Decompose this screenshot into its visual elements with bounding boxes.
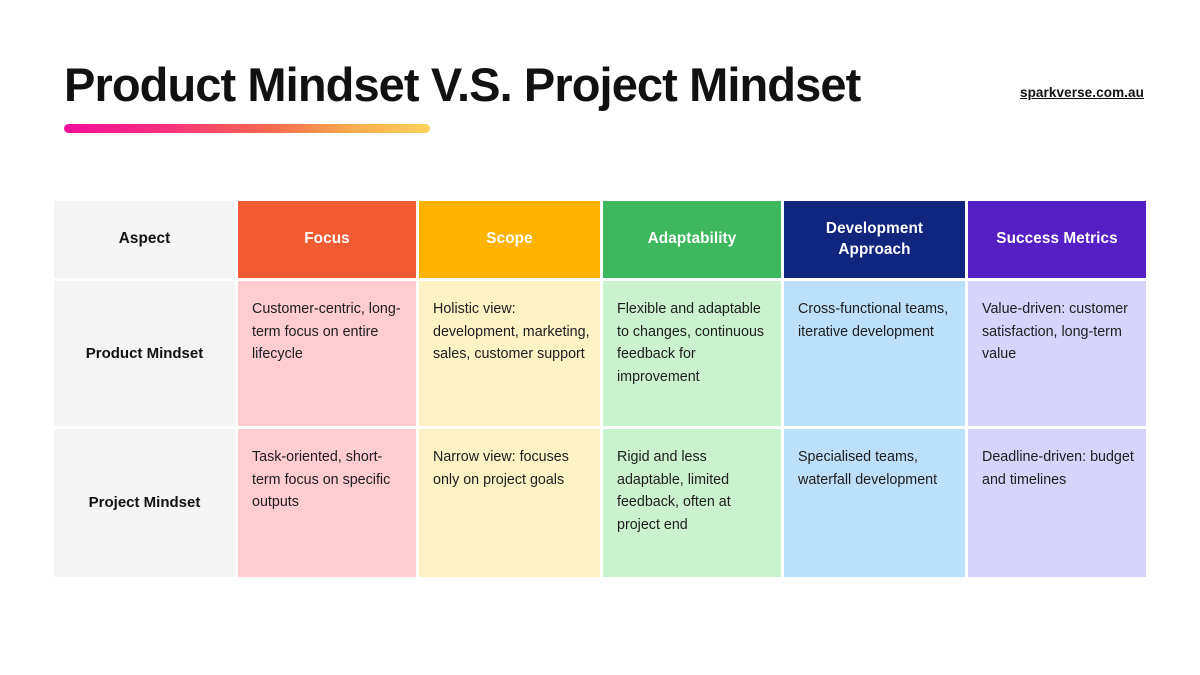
cell-text: Narrow view: focuses only on project goa…: [433, 446, 590, 491]
table-cell-project-success-metrics: Deadline-driven: budget and timelines: [968, 429, 1146, 577]
title-underline-gradient-bar: [64, 124, 430, 133]
table-header-development-approach: Development Approach: [784, 201, 965, 278]
table-row-label-product-mindset: Product Mindset: [54, 281, 235, 426]
cell-text: Cross-functional teams, iterative develo…: [798, 298, 955, 343]
table-cell-product-adaptability: Flexible and adaptable to changes, conti…: [603, 281, 781, 426]
slide-header: Product Mindset V.S. Project Mindset spa…: [0, 0, 1200, 170]
cell-text: Holistic view: development, marketing, s…: [433, 298, 590, 366]
table-header-scope: Scope: [419, 201, 600, 278]
cell-text: Flexible and adaptable to changes, conti…: [617, 298, 771, 388]
table-header-adaptability: Adaptability: [603, 201, 781, 278]
page-title: Product Mindset V.S. Project Mindset: [64, 58, 860, 112]
table-cell-project-adaptability: Rigid and less adaptable, limited feedba…: [603, 429, 781, 577]
table-row-label-project-mindset: Project Mindset: [54, 429, 235, 577]
comparison-table: Aspect Focus Scope Adaptability Developm…: [54, 201, 1145, 577]
table-cell-product-scope: Holistic view: development, marketing, s…: [419, 281, 600, 426]
cell-text: Value-driven: customer satisfaction, lon…: [982, 298, 1136, 366]
table-cell-product-focus: Customer-centric, long-term focus on ent…: [238, 281, 416, 426]
table-cell-product-success-metrics: Value-driven: customer satisfaction, lon…: [968, 281, 1146, 426]
table-header-success-metrics: Success Metrics: [968, 201, 1146, 278]
table-cell-product-development-approach: Cross-functional teams, iterative develo…: [784, 281, 965, 426]
table-cell-project-development-approach: Specialised teams, waterfall development: [784, 429, 965, 577]
cell-text: Task-oriented, short-term focus on speci…: [252, 446, 406, 514]
slide-root: Product Mindset V.S. Project Mindset spa…: [0, 0, 1200, 675]
site-url-link[interactable]: sparkverse.com.au: [1020, 85, 1144, 100]
cell-text: Specialised teams, waterfall development: [798, 446, 955, 491]
cell-text: Customer-centric, long-term focus on ent…: [252, 298, 406, 366]
table-cell-project-focus: Task-oriented, short-term focus on speci…: [238, 429, 416, 577]
table-cell-project-scope: Narrow view: focuses only on project goa…: [419, 429, 600, 577]
cell-text: Rigid and less adaptable, limited feedba…: [617, 446, 771, 536]
cell-text: Deadline-driven: budget and timelines: [982, 446, 1136, 491]
table-header-aspect: Aspect: [54, 201, 235, 278]
table-header-focus: Focus: [238, 201, 416, 278]
